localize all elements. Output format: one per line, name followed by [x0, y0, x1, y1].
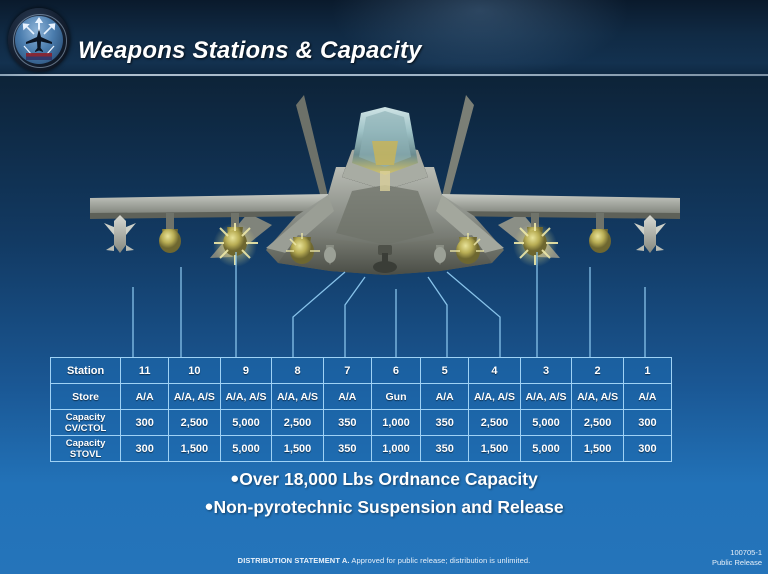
cell-station-4: 4 — [469, 358, 521, 384]
cell-station-9: 9 — [220, 358, 272, 384]
cell-cvctol-4: 2,500 — [469, 410, 521, 436]
cell-cvctol-7: 350 — [323, 410, 371, 436]
cell-store-5: A/A — [421, 384, 469, 410]
slide-header: Weapons Stations & Capacity — [0, 0, 768, 77]
bullet-item-1: ●Over 18,000 Lbs Ordnance Capacity — [0, 466, 768, 494]
page-title: Weapons Stations & Capacity — [78, 37, 422, 65]
bullet-item-2: ●Non-pyrotechnic Suspension and Release — [0, 494, 768, 522]
cell-stovl-9: 5,000 — [220, 436, 272, 462]
cell-cvctol-9: 5,000 — [220, 410, 272, 436]
cell-store-1: A/A — [623, 384, 671, 410]
cell-station-11: 11 — [121, 358, 169, 384]
cell-stovl-5: 350 — [421, 436, 469, 462]
cell-store-10: A/A, A/S — [169, 384, 221, 410]
cell-store-2: A/A, A/S — [572, 384, 624, 410]
cell-stovl-10: 1,500 — [169, 436, 221, 462]
cell-cvctol-6: 1,000 — [371, 410, 420, 436]
cell-station-10: 10 — [169, 358, 221, 384]
cell-store-7: A/A — [323, 384, 371, 410]
cell-station-6: 6 — [371, 358, 420, 384]
table-row-station: Station 11 10 9 8 7 6 5 4 3 2 1 — [51, 358, 672, 384]
cell-cvctol-10: 2,500 — [169, 410, 221, 436]
cell-store-4: A/A, A/S — [469, 384, 521, 410]
cell-store-9: A/A, A/S — [220, 384, 272, 410]
cell-stovl-6: 1,000 — [371, 436, 420, 462]
row-label-line1: Capacity — [66, 412, 106, 423]
cell-cvctol-2: 2,500 — [572, 410, 624, 436]
cell-stovl-7: 350 — [323, 436, 371, 462]
cell-stovl-3: 5,000 — [520, 436, 572, 462]
distribution-statement-rest: Approved for public release; distributio… — [350, 556, 531, 565]
cell-cvctol-11: 300 — [121, 410, 169, 436]
cell-cvctol-3: 5,000 — [520, 410, 572, 436]
row-label-line2: STOVL — [70, 449, 102, 460]
cell-stovl-4: 1,500 — [469, 436, 521, 462]
cell-stovl-8: 1,500 — [272, 436, 324, 462]
cell-station-7: 7 — [323, 358, 371, 384]
weapons-stations-table: Station 11 10 9 8 7 6 5 4 3 2 1 Store A/… — [50, 357, 672, 462]
badge-ring — [13, 14, 67, 68]
cell-stovl-2: 1,500 — [572, 436, 624, 462]
cell-station-2: 2 — [572, 358, 624, 384]
table-row-capacity-stovl: Capacity STOVL 300 1,500 5,000 1,500 350… — [51, 436, 672, 462]
cell-cvctol-8: 2,500 — [272, 410, 324, 436]
cell-station-5: 5 — [421, 358, 469, 384]
cell-stovl-11: 300 — [121, 436, 169, 462]
leader-line-station-7 — [345, 277, 365, 357]
cell-store-6: Gun — [371, 384, 420, 410]
release-label: Public Release — [712, 558, 762, 568]
cell-station-1: 1 — [623, 358, 671, 384]
bullet-text: Over 18,000 Lbs Ordnance Capacity — [239, 469, 538, 489]
leader-line-station-5 — [428, 277, 447, 357]
cell-cvctol-5: 350 — [421, 410, 469, 436]
row-label-station: Station — [51, 358, 121, 384]
table-row-capacity-cv-ctol: Capacity CV/CTOL 300 2,500 5,000 2,500 3… — [51, 410, 672, 436]
table-row-store: Store A/A A/A, A/S A/A, A/S A/A, A/S A/A… — [51, 384, 672, 410]
bullet-list: ●Over 18,000 Lbs Ordnance Capacity ●Non-… — [0, 466, 768, 522]
cell-store-8: A/A, A/S — [272, 384, 324, 410]
cell-cvctol-1: 300 — [623, 410, 671, 436]
release-number: 100705-1 — [712, 548, 762, 558]
row-label-store: Store — [51, 384, 121, 410]
cell-station-8: 8 — [272, 358, 324, 384]
bullet-dot-icon: ● — [230, 470, 239, 487]
leader-line-station-4 — [447, 272, 500, 357]
cell-station-3: 3 — [520, 358, 572, 384]
f-35-lightning-ii-program-badge — [8, 8, 70, 72]
release-info: 100705-1 Public Release — [712, 548, 762, 567]
cell-stovl-1: 300 — [623, 436, 671, 462]
row-label-capacity-cv-ctol: Capacity CV/CTOL — [51, 410, 121, 436]
leader-line-station-8 — [293, 272, 345, 357]
slide-canvas: Weapons Stations & Capacity — [0, 0, 768, 574]
cell-store-11: A/A — [121, 384, 169, 410]
bullet-dot-icon: ● — [204, 498, 213, 515]
cell-store-3: A/A, A/S — [520, 384, 572, 410]
bullet-text: Non-pyrotechnic Suspension and Release — [213, 497, 563, 517]
row-label-line1: Capacity — [66, 438, 106, 449]
row-label-line2: CV/CTOL — [65, 423, 107, 434]
distribution-statement-bold: DISTRIBUTION STATEMENT A. — [238, 556, 350, 565]
distribution-statement: DISTRIBUTION STATEMENT A. Approved for p… — [0, 556, 768, 565]
row-label-capacity-stovl: Capacity STOVL — [51, 436, 121, 462]
